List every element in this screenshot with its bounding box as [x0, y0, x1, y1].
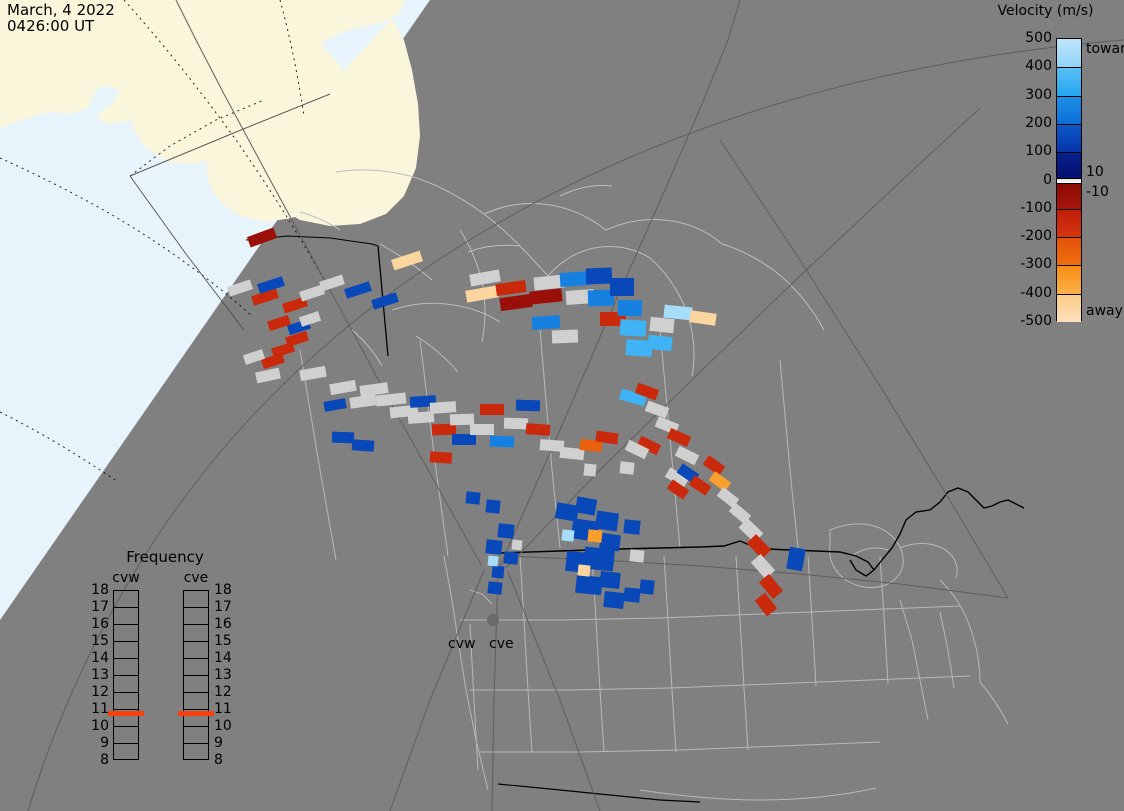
frequency-cell	[184, 642, 208, 659]
velocity-cell	[618, 300, 643, 317]
velocity-cell	[516, 400, 540, 412]
site-label-cvw: cvw	[448, 636, 475, 652]
frequency-label-right-11: 11	[214, 701, 232, 717]
frequency-label-left-17: 17	[85, 599, 109, 615]
frequency-cell	[184, 625, 208, 642]
frequency-cell	[184, 744, 208, 761]
velocity-tick-400: 400	[1025, 58, 1052, 74]
velocity-tick-neg100: -100	[1020, 200, 1052, 216]
velocity-tick-0: 0	[1043, 172, 1052, 188]
velocity-band-separator-10	[1057, 294, 1081, 295]
velocity-cell	[470, 424, 494, 435]
velocity-cell	[512, 540, 523, 551]
velocity-band-9	[1057, 265, 1081, 293]
frequency-label-right-10: 10	[214, 718, 232, 734]
velocity-band-4	[1057, 152, 1081, 177]
frequency-cell	[114, 676, 138, 693]
velocity-colorbar-box	[1056, 38, 1082, 321]
frequency-cell	[114, 608, 138, 625]
frequency-cell	[184, 676, 208, 693]
velocity-band-separator-6	[1057, 183, 1081, 184]
frequency-label-right-13: 13	[214, 667, 232, 683]
velocity-band-1	[1057, 67, 1081, 95]
frequency-label-right-16: 16	[214, 616, 232, 632]
velocity-cell	[623, 587, 640, 603]
radar-site-marker	[487, 614, 499, 626]
frequency-legend: Frequency cvw cve 1818171716161515141413…	[85, 545, 250, 795]
radar-map-figure: March, 4 20220426:00 UT cvw cve Velocity…	[0, 0, 1124, 811]
frequency-label-left-11: 11	[85, 701, 109, 717]
frequency-cell	[114, 727, 138, 744]
frequency-column-title-cvw: cvw	[103, 570, 149, 586]
velocity-cell	[408, 411, 435, 424]
velocity-cell	[432, 424, 456, 436]
velocity-cell	[430, 451, 453, 464]
velocity-cell	[532, 315, 561, 330]
velocity-band-separator-2	[1057, 96, 1081, 97]
velocity-cell	[491, 565, 504, 578]
frequency-cell	[114, 625, 138, 642]
velocity-cell	[480, 404, 504, 415]
frequency-label-left-16: 16	[85, 616, 109, 632]
velocity-band-separator-7	[1057, 209, 1081, 210]
velocity-cell	[504, 418, 528, 430]
velocity-band-separator-9	[1057, 265, 1081, 266]
frequency-marker-cvw	[108, 711, 144, 716]
frequency-column-title-cve: cve	[173, 570, 219, 586]
velocity-cell	[595, 511, 619, 532]
velocity-cell	[619, 461, 634, 474]
velocity-band-separator-3	[1057, 124, 1081, 125]
frequency-label-left-15: 15	[85, 633, 109, 649]
frequency-cell	[184, 608, 208, 625]
velocity-cell	[452, 434, 476, 445]
velocity-band-8	[1057, 237, 1081, 265]
frequency-label-left-10: 10	[85, 718, 109, 734]
velocity-cell	[552, 330, 578, 344]
frequency-label-left-8: 8	[85, 752, 109, 768]
frequency-legend-title: Frequency	[85, 548, 245, 566]
frequency-cell	[114, 591, 138, 608]
toward-label: toward	[1086, 41, 1124, 57]
frequency-label-right-17: 17	[214, 599, 232, 615]
velocity-cell	[599, 571, 621, 589]
velocity-cell	[649, 317, 674, 333]
velocity-cell	[503, 551, 518, 564]
velocity-band-separator-5	[1057, 178, 1081, 179]
frequency-label-left-14: 14	[85, 650, 109, 666]
velocity-cell	[575, 575, 603, 596]
frequency-label-left-9: 9	[85, 735, 109, 751]
velocity-band-10	[1057, 294, 1081, 322]
velocity-cell	[450, 414, 474, 426]
velocity-cell	[526, 423, 551, 436]
inner-low-label: -10	[1086, 184, 1109, 200]
velocity-cell	[587, 529, 602, 542]
velocity-band-6	[1057, 183, 1081, 208]
velocity-band-3	[1057, 124, 1081, 152]
velocity-cell	[497, 523, 514, 539]
velocity-cell	[488, 556, 499, 567]
velocity-cell	[623, 519, 640, 535]
frequency-label-right-15: 15	[214, 633, 232, 649]
velocity-cell	[430, 401, 457, 414]
velocity-cell	[575, 496, 597, 515]
frequency-bar-cvw	[113, 590, 139, 760]
velocity-cell	[586, 268, 613, 285]
timestamp-label: March, 4 20220426:00 UT	[7, 2, 115, 34]
velocity-colorbar: Velocity (m/s) 5004003002001000-100-200-…	[975, 0, 1124, 340]
velocity-tick-neg400: -400	[1020, 285, 1052, 301]
frequency-label-left-12: 12	[85, 684, 109, 700]
frequency-label-right-8: 8	[214, 752, 223, 768]
velocity-tick-500: 500	[1025, 30, 1052, 46]
velocity-band-2	[1057, 96, 1081, 124]
frequency-cell	[184, 659, 208, 676]
velocity-cell	[352, 439, 375, 452]
velocity-tick-neg300: -300	[1020, 256, 1052, 272]
frequency-label-right-18: 18	[214, 582, 232, 598]
velocity-cell	[603, 591, 625, 609]
frequency-marker-cve	[178, 711, 214, 716]
frequency-label-right-9: 9	[214, 735, 223, 751]
velocity-cell	[647, 335, 672, 351]
velocity-cell	[487, 581, 502, 594]
frequency-cell	[184, 727, 208, 744]
velocity-cell	[561, 529, 574, 541]
velocity-tick-neg200: -200	[1020, 228, 1052, 244]
velocity-tick-200: 200	[1025, 115, 1052, 131]
time-text: 0426:00 UT	[7, 17, 94, 35]
frequency-label-left-18: 18	[85, 582, 109, 598]
velocity-cell	[332, 432, 354, 444]
frequency-cell	[114, 642, 138, 659]
velocity-cell	[465, 491, 480, 504]
velocity-band-separator-8	[1057, 237, 1081, 238]
velocity-cell	[619, 319, 646, 337]
velocity-cell	[485, 539, 502, 555]
velocity-cell	[583, 463, 596, 476]
inner-high-label: 10	[1086, 164, 1104, 180]
velocity-cell	[610, 278, 634, 296]
velocity-cell	[629, 549, 644, 562]
velocity-band-separator-4	[1057, 152, 1081, 153]
velocity-cell	[485, 499, 500, 513]
frequency-cell	[114, 659, 138, 676]
frequency-label-right-12: 12	[214, 684, 232, 700]
velocity-colorbar-title: Velocity (m/s)	[975, 3, 1116, 19]
velocity-tick-100: 100	[1025, 143, 1052, 159]
frequency-cell	[184, 591, 208, 608]
velocity-cell	[639, 579, 654, 594]
velocity-band-7	[1057, 209, 1081, 237]
frequency-cell	[184, 693, 208, 710]
velocity-band-0	[1057, 39, 1081, 67]
velocity-tick-neg500: -500	[1020, 313, 1052, 329]
velocity-cell	[560, 271, 591, 287]
velocity-tick-300: 300	[1025, 87, 1052, 103]
frequency-bar-cve	[183, 590, 209, 760]
away-label: away	[1086, 303, 1123, 319]
frequency-cell	[114, 744, 138, 761]
frequency-cell	[114, 693, 138, 710]
velocity-band-separator-1	[1057, 67, 1081, 68]
frequency-label-right-14: 14	[214, 650, 232, 666]
velocity-cell	[577, 564, 590, 576]
frequency-label-left-13: 13	[85, 667, 109, 683]
site-label-cve: cve	[489, 636, 514, 652]
velocity-cell	[490, 436, 514, 448]
